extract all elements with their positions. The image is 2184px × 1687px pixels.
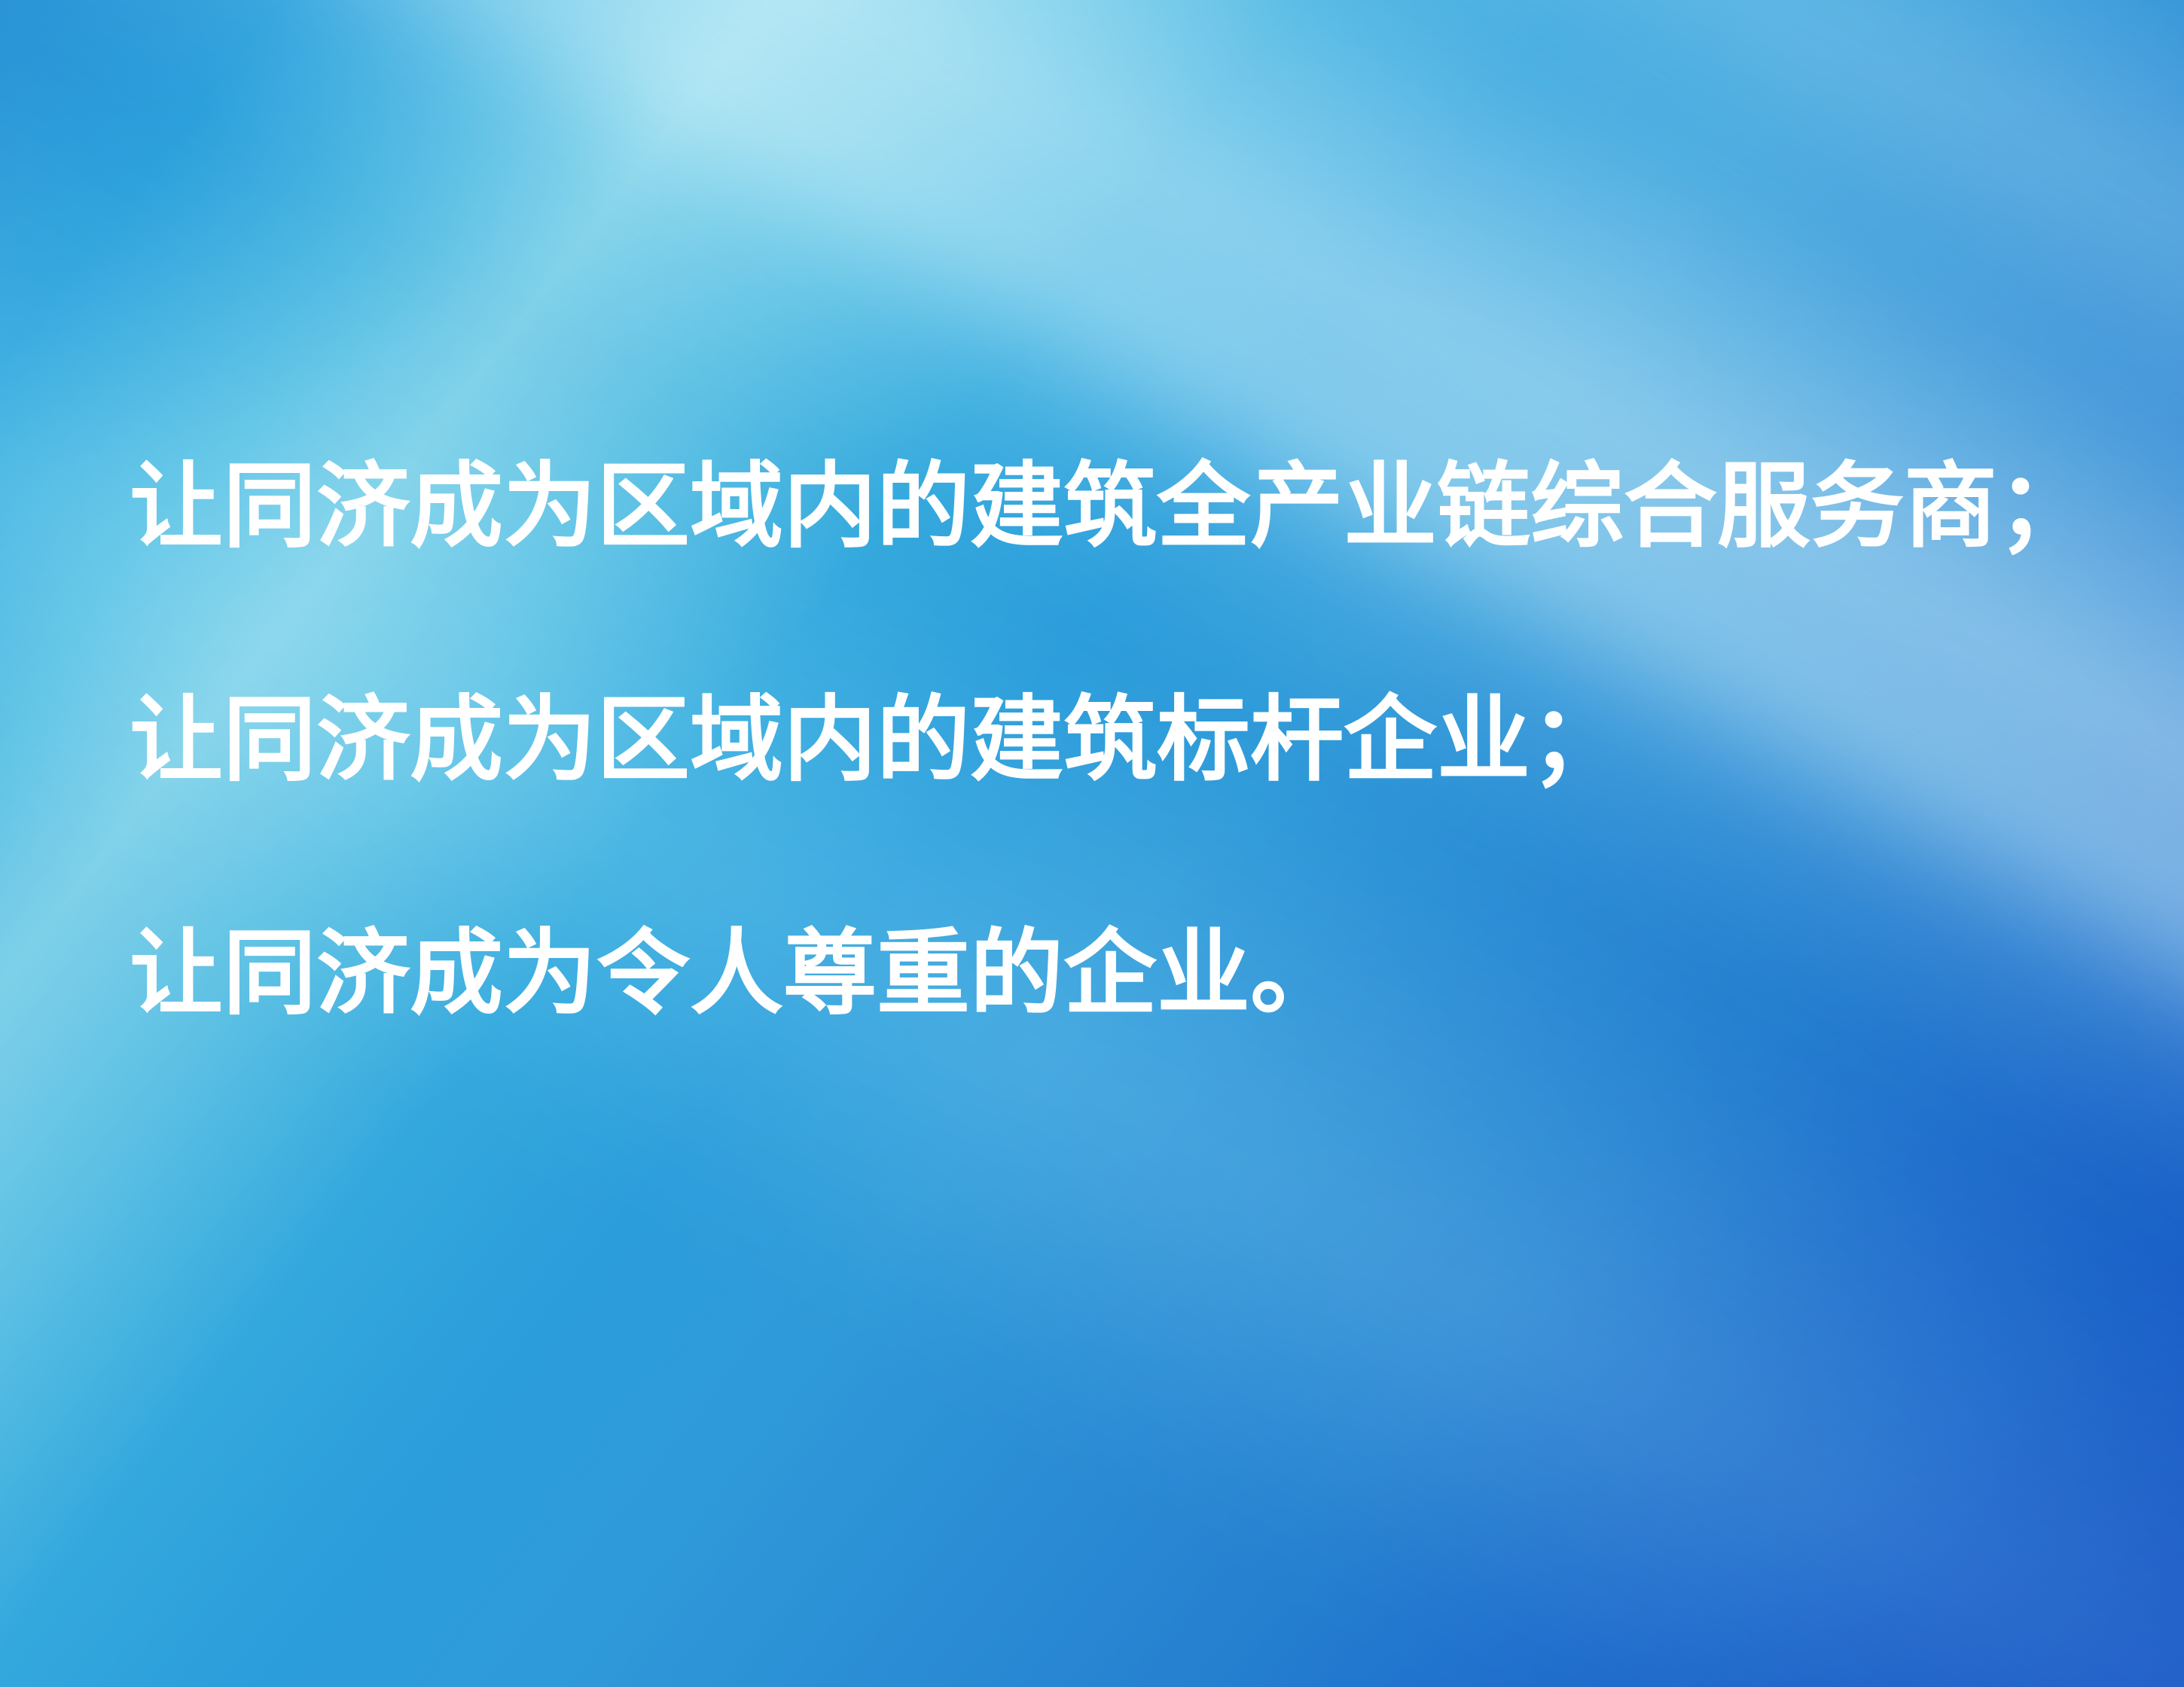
slide-canvas: 让同济成为区域内的建筑全产业链综合服务商； 让同济成为区域内的建筑标杆企业； 让… xyxy=(0,0,2184,1687)
vision-statement-line-2: 让同济成为区域内的建筑标杆企业； xyxy=(130,694,2118,788)
vision-statement-line-1: 让同济成为区域内的建筑全产业链综合服务商； xyxy=(130,461,2118,554)
vision-statement-line-3: 让同济成为令人尊重的企业。 xyxy=(130,928,2118,1021)
vision-statement-block: 让同济成为区域内的建筑全产业链综合服务商； 让同济成为区域内的建筑标杆企业； 让… xyxy=(130,461,2118,1021)
